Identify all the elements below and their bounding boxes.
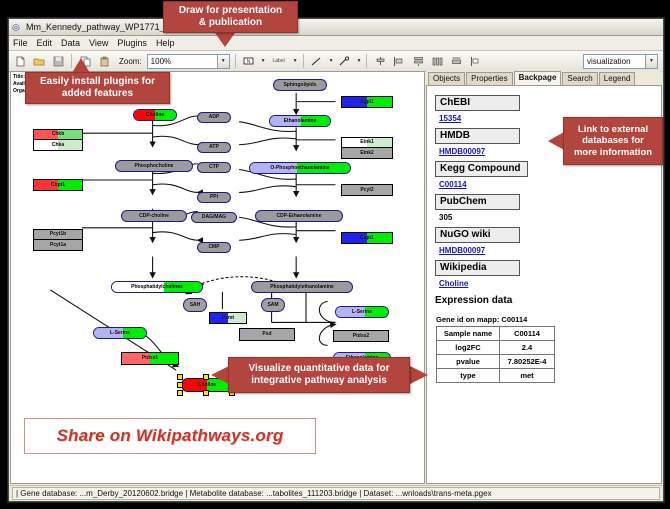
node-etnk2[interactable]: Etnk2 [341,148,393,159]
table-row: pvalue 7.80252E-4 [437,355,555,369]
node-label: CTP [209,165,219,170]
node-pcyt1a[interactable]: Pcyt1a [33,240,83,251]
callout-visualize-text: Visualize quantitative data for integrat… [249,363,390,387]
node-label: Phosphatidylethanolamine [270,285,334,290]
node-label: Cept1 [360,236,374,241]
datanode-icon[interactable]: N [241,53,257,69]
node-phosphocholine[interactable]: Phosphocholine [115,160,193,172]
table-cell-key: type [437,369,500,383]
node-atp[interactable]: ATP [197,142,231,153]
callout-share: Share on Wikipathways.org [24,418,316,454]
side-panel-tabs: Objects Properties Backpage Search Legen… [426,71,662,85]
backpage-link-wikipedia[interactable]: Choline [439,279,655,288]
callout-link-text: Link to external databases for more info… [574,124,652,159]
menu-item-plugins[interactable]: Plugins [117,38,147,48]
backpage-heading-hmdb: HMDB [435,128,520,144]
chevron-down-icon-visualization[interactable]: ▼ [645,55,657,68]
title-bar: ◎ Mm_Kennedy_pathway_WP1771_45176.gpml [9,19,663,36]
node-choline-top[interactable]: Choline [133,109,177,121]
tab-properties[interactable]: Properties [466,72,512,85]
node-label: ATP [209,145,219,150]
node-ptdss2[interactable]: Ptdss2 [333,330,389,342]
node-cmp[interactable]: CMP [197,242,231,253]
new-icon[interactable] [12,53,28,69]
node-sam[interactable]: SAM [261,298,285,312]
callout-visualize: Visualize quantitative data for integrat… [228,357,410,393]
node-sah[interactable]: SAH [183,298,207,312]
toolbar-separator-3 [303,54,304,68]
resize-handle-sw[interactable] [177,390,183,396]
callout-plugins-arrow-icon [72,58,90,73]
node-label: CMP [208,245,219,250]
resize-handle-n[interactable] [203,374,209,380]
app-icon: ◎ [12,22,22,32]
table-cell-value: 2.4 [500,341,555,355]
node-pcyt2[interactable]: Pcyt2 [341,184,393,196]
node-o-phosphoethanolamine[interactable]: O-Phosphoethanolamine [249,162,351,174]
node-adp[interactable]: ADP [197,112,231,123]
menu-item-help[interactable]: Help [156,38,175,48]
node-cdp-choline[interactable]: CDP-choline [121,210,187,222]
chevron-down-icon[interactable]: ▼ [217,55,229,68]
node-pcyt1b[interactable]: Pcyt1b [33,229,83,240]
node-label: L-Serine [110,331,130,336]
callout-share-text: Share on Wikipathways.org [57,426,284,446]
node-l-serine-left[interactable]: L-Serine [93,327,147,339]
backpage-heading-chebi: ChEBI [435,95,520,111]
label-icon-text: Label [273,58,285,64]
node-label: Psd [262,332,271,337]
chevron-down-icon-datanode[interactable]: ▼ [261,58,266,64]
common-width-icon[interactable] [448,53,464,69]
node-etnk1[interactable]: Etnk1 [341,137,393,148]
node-label: Pcyt1b [50,232,66,237]
callout-link: Link to external databases for more info… [563,117,663,165]
callout-draw: Draw for presentation & publication [163,1,298,33]
node-label: Etnk1 [360,140,374,145]
node-cdp-ethanolamine[interactable]: CDP-Ethanolamine [255,210,343,222]
tab-legend[interactable]: Legend [599,72,636,85]
table-cell-key: Sample name [437,327,500,341]
node-phosphatidylcholines[interactable]: Phosphatidylcholines [111,281,203,293]
chevron-down-icon-receptor[interactable]: ▼ [357,58,362,64]
table-row: Sample name C00114 [437,327,555,341]
status-bar: | Gene database: ...m_Derby_20120602.bri… [9,485,663,501]
toolbar-separator-2 [235,54,236,68]
node-label: Phosphocholine [135,164,174,169]
node-ptdss1[interactable]: Ptdss1 [121,352,179,365]
gene-id-line: Gene id on mapp: C00114 [436,315,655,324]
table-cell-key: log2FC [437,341,500,355]
node-label: Pcyt1a [50,243,66,248]
backpage-link-kegg[interactable]: C00114 [439,180,655,189]
node-psd[interactable]: Psd [239,328,295,341]
node-label: Chpt1 [51,183,65,188]
stack-icon[interactable] [410,53,426,69]
callout-plugins: Easily install plugins for added feature… [25,72,170,104]
tab-objects[interactable]: Objects [428,72,465,85]
node-label: SAH [190,303,201,308]
node-ctp[interactable]: CTP [197,162,231,173]
zoom-label: Zoom: [119,57,142,66]
menu-item-data[interactable]: Data [61,38,80,48]
callout-plugins-text: Easily install plugins for added feature… [40,76,155,100]
node-sphingolipids[interactable]: Sphingolipids [273,79,327,91]
callout-visualize-arrow-right-icon [410,366,428,384]
expression-table: Sample name C00114 log2FC 2.4 pvalue 7.8… [436,326,555,383]
zoom-value: 100% [151,57,171,66]
backpage-value-pubchem: 305 [439,213,655,222]
table-cell-value: C00114 [500,327,555,341]
callout-draw-text: Draw for presentation & publication [179,5,282,29]
node-label: Pemt [222,316,234,321]
node-label: Ptdss1 [142,356,158,361]
tool-bar: Zoom: 100% ▼ N ▼ Label ▼ ▼ ▼ [9,51,663,72]
node-label: Chkb [52,132,65,137]
node-pemt[interactable]: Pemt [209,312,247,324]
backpage-heading-pubchem: PubChem [435,194,520,210]
tab-backpage[interactable]: Backpage [514,71,562,85]
node-label: L-Serine [352,310,372,315]
backpage-heading-kegg: Kegg Compound [435,161,528,177]
visualization-combo[interactable]: visualization ▼ [583,54,658,69]
line-icon[interactable] [309,53,325,69]
svg-text:N: N [247,59,251,65]
chevron-down-icon-label[interactable]: ▼ [293,58,298,64]
paste-icon[interactable] [96,53,112,69]
tab-search[interactable]: Search [562,72,597,85]
backpage-link-nugo[interactable]: HMDB00097 [439,246,655,255]
status-text: | Gene database: ...m_Derby_20120602.bri… [12,487,660,500]
expression-data-title: Expression data [435,295,655,306]
backpage-heading-wikipedia: Wikipedia [435,260,520,276]
node-label: CDP-choline [139,214,169,219]
backpage-heading-nugo: NuGO wiki [435,227,520,243]
node-label: CDP-Ethanolamine [276,214,321,219]
align-center-icon[interactable] [372,53,388,69]
resize-handle-w[interactable] [177,382,183,388]
menu-item-view[interactable]: View [89,38,108,48]
menu-item-file[interactable]: File [13,38,28,48]
save-icon[interactable] [50,53,66,69]
node-phosphatidylethanolamine[interactable]: Phosphatidylethanolamine [251,281,353,293]
distribute-icon[interactable] [429,53,445,69]
callout-draw-arrow-icon [215,33,235,47]
align-left-icon[interactable] [391,53,407,69]
label-icon[interactable]: Label [269,53,289,69]
node-chkb[interactable]: Chkb [33,129,83,140]
bring-front-icon[interactable] [467,53,483,69]
open-icon[interactable] [31,53,47,69]
callout-visualize-arrow-left-icon [211,366,229,384]
table-row: log2FC 2.4 [437,341,555,355]
node-ppi[interactable]: PPi [197,192,231,203]
chevron-down-icon-line[interactable]: ▼ [329,58,334,64]
node-label: ADP [209,115,220,120]
node-label: Sphingolipids [283,83,316,88]
table-cell-value: met [500,369,555,383]
resize-handle-nw[interactable] [177,374,183,380]
table-row: type met [437,369,555,383]
node-label: Choline [146,113,164,118]
menu-item-edit[interactable]: Edit [37,38,53,48]
node-label: SAM [267,303,278,308]
node-ethanolamine-top[interactable]: Ethanolamine [269,115,331,127]
node-label: DAG/MAG [202,215,226,220]
screenshot-root: ◎ Mm_Kennedy_pathway_WP1771_45176.gpml F… [0,0,670,509]
resize-handle-s[interactable] [203,390,209,396]
node-label: Ethanolamine [284,119,317,124]
node-chka[interactable]: Chka [33,140,83,151]
table-cell-key: pvalue [437,355,500,369]
node-chpt1[interactable]: Chpt1 [33,179,83,191]
node-l-serine-right[interactable]: L-Serine [335,306,389,318]
receptor-icon[interactable] [337,53,353,69]
table-cell-value: 7.80252E-4 [500,355,555,369]
node-label: Sgpl1 [360,100,374,105]
node-dag-mag[interactable]: DAG/MAG [191,212,237,223]
callout-link-arrow-icon [548,132,564,150]
toolbar-separator-4 [366,54,367,68]
node-sgpl1[interactable]: Sgpl1 [341,96,393,108]
zoom-combo[interactable]: 100% ▼ [147,54,230,69]
node-label: Phosphatidylcholines [131,285,183,290]
node-label: O-Phosphoethanolamine [270,166,329,171]
node-label: PPi [210,195,218,200]
visualization-value: visualization [587,57,631,66]
node-label: Chka [52,143,64,148]
node-label: Pcyt2 [360,188,373,193]
menu-bar: File Edit Data View Plugins Help [9,36,663,51]
node-cept1[interactable]: Cept1 [341,232,393,244]
node-label: Ptdss2 [353,334,369,339]
node-label: Etnk2 [360,151,374,156]
